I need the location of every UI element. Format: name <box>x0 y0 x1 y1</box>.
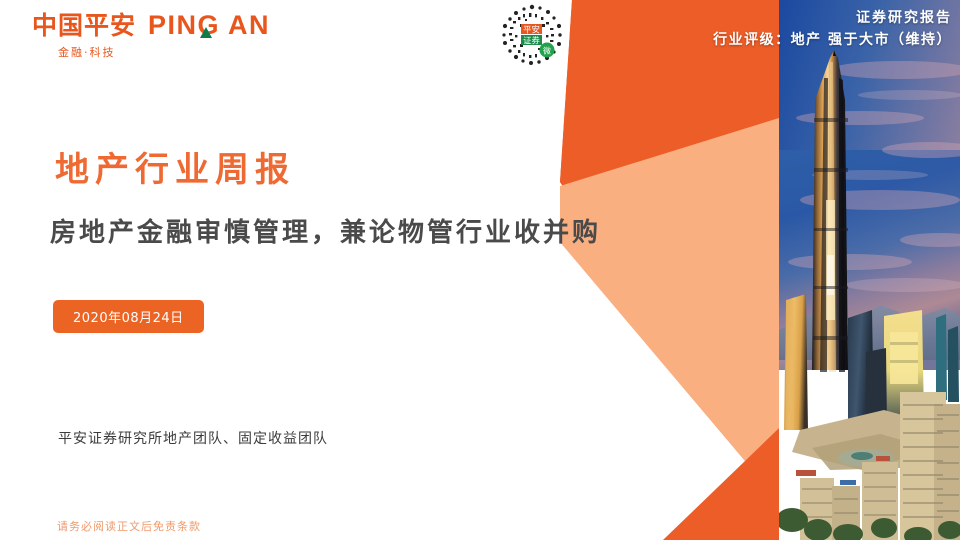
publish-date-badge: 2020年08月24日 <box>53 300 204 333</box>
industry-rating-label: 行业评级：地产 强于大市（维持） <box>713 30 952 52</box>
cover-background-artwork <box>0 0 960 540</box>
author-team-label: 平安证券研究所地产团队、固定收益团队 <box>58 428 328 448</box>
page-subtitle: 房地产金融审慎管理，兼论物管行业收并购 <box>50 219 601 249</box>
logo-tagline: 金融·科技 <box>58 44 270 60</box>
report-cover-slide: 中国平安 PING AN 金融·科技 <box>0 0 960 540</box>
svg-text:证券: 证券 <box>523 35 540 45</box>
logo-english-text: PING AN <box>148 12 270 39</box>
svg-text:微: 微 <box>543 45 551 55</box>
logo-chinese-text: 中国平安 <box>32 13 136 38</box>
page-title: 地产行业周报 <box>55 152 295 189</box>
report-header: 证券研究报告 行业评级：地产 强于大市（维持） <box>713 8 952 51</box>
pingan-logo: 中国平安 PING AN 金融·科技 <box>32 12 270 60</box>
pingan-securities-qr-code[interactable]: 平安 证券 微 <box>499 2 565 68</box>
disclaimer-note: 请务必阅读正文后免责条款 <box>57 518 201 534</box>
logo-green-triangle-icon <box>200 27 212 38</box>
report-type-label: 证券研究报告 <box>713 8 952 30</box>
svg-text:平安: 平安 <box>523 24 540 34</box>
